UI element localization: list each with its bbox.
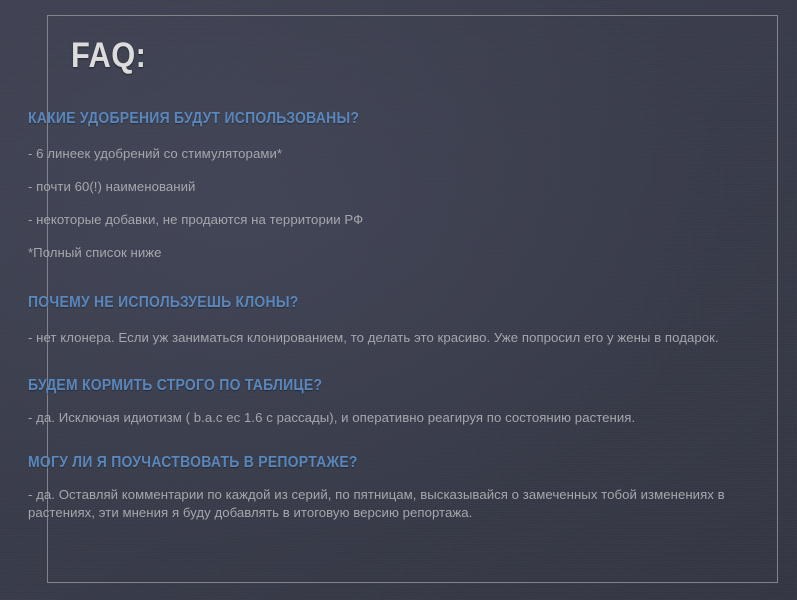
faq-question-4: МОГУ ЛИ Я ПОУЧАСТВОВАТЬ В РЕПОРТАЖЕ?	[28, 454, 358, 472]
page-title: FAQ:	[71, 38, 146, 73]
faq-answer-1-2: - почти 60(!) наименований	[28, 178, 788, 196]
faq-question-2: ПОЧЕМУ НЕ ИСПОЛЬЗУЕШЬ КЛОНЫ?	[28, 294, 299, 312]
faq-answer-1-3: - некоторые добавки, не продаются на тер…	[28, 211, 788, 229]
faq-answer-3-1: - да. Исключая идиотизм ( b.a.c ec 1.6 с…	[28, 409, 788, 427]
faq-answer-group-4: - да. Оставляй комментарии по каждой из …	[28, 486, 772, 522]
faq-question-1: КАКИЕ УДОБРЕНИЯ БУДУТ ИСПОЛЬЗОВАНЫ?	[28, 110, 359, 128]
faq-answer-group-2: - нет клонера. Если уж заниматься клонир…	[28, 329, 788, 347]
slide-canvas: FAQ: КАКИЕ УДОБРЕНИЯ БУДУТ ИСПОЛЬЗОВАНЫ?…	[0, 0, 797, 600]
faq-answer-1-1: - 6 линеек удобрений со стимуляторами*	[28, 145, 788, 163]
faq-answer-group-1: - 6 линеек удобрений со стимуляторами*- …	[28, 145, 788, 262]
faq-question-3: БУДЕМ КОРМИТЬ СТРОГО ПО ТАБЛИЦЕ?	[28, 377, 322, 395]
slide-content: FAQ: КАКИЕ УДОБРЕНИЯ БУДУТ ИСПОЛЬЗОВАНЫ?…	[0, 0, 797, 600]
faq-answer-1-4: *Полный список ниже	[28, 244, 788, 262]
faq-answer-2-1: - нет клонера. Если уж заниматься клонир…	[28, 329, 788, 347]
faq-answer-4-1: - да. Оставляй комментарии по каждой из …	[28, 486, 772, 522]
faq-answer-group-3: - да. Исключая идиотизм ( b.a.c ec 1.6 с…	[28, 409, 788, 427]
